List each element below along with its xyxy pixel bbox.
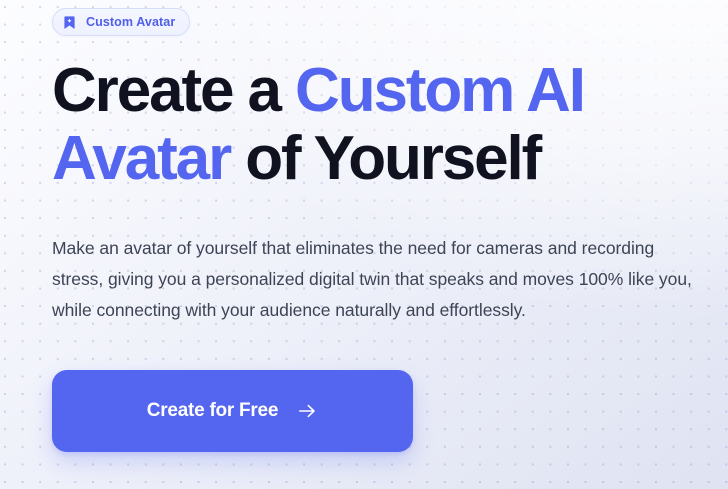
- custom-avatar-badge[interactable]: Custom Avatar: [52, 8, 190, 36]
- cta-label: Create for Free: [147, 400, 278, 422]
- headline-accent-2: Avatar: [52, 124, 230, 193]
- create-for-free-button[interactable]: Create for Free: [52, 370, 413, 452]
- headline-plain-1: Create a: [52, 56, 295, 125]
- hero-description: Make an avatar of yourself that eliminat…: [52, 233, 697, 326]
- hero-section: Custom Avatar Create a Custom AIAvatar o…: [0, 0, 728, 452]
- bookmark-sparkle-icon: [61, 14, 78, 31]
- headline-accent-1: Custom AI: [295, 56, 584, 125]
- page-title: Create a Custom AIAvatar of Yourself: [52, 57, 712, 193]
- arrow-right-icon: [296, 400, 318, 422]
- badge-label: Custom Avatar: [86, 15, 175, 29]
- cta-row: Create for Free: [52, 370, 728, 452]
- headline-plain-2: of Yourself: [230, 124, 540, 193]
